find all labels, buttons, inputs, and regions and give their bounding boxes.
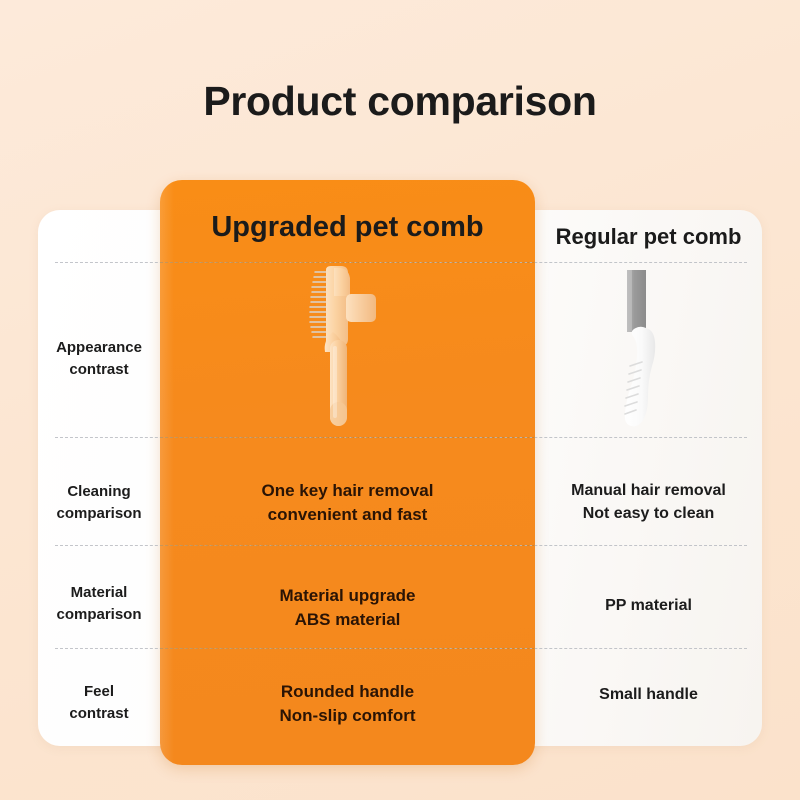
cell-line-1: Small handle — [535, 684, 762, 707]
cell-line-1: Rounded handle — [160, 680, 535, 704]
column-header-regular-pet-comb: Regular pet comb — [535, 224, 762, 250]
cell-line-1: PP material — [535, 595, 762, 618]
cell-upgraded-material: Material upgrade ABS material — [160, 584, 535, 632]
cell-regular-feel: Small handle — [535, 684, 762, 707]
row-label-material-comparison: Material comparison — [38, 582, 160, 626]
cell-line-2: Non-slip comfort — [160, 704, 535, 728]
cell-line-1: Manual hair removal — [535, 480, 762, 503]
cell-regular-cleaning: Manual hair removal Not easy to clean — [535, 480, 762, 525]
row-label-line-2: contrast — [38, 359, 160, 381]
cell-line-2: convenient and fast — [160, 503, 535, 527]
row-label-line-1: Material — [38, 582, 160, 604]
row-divider-2-inner — [160, 437, 535, 438]
upgraded-pet-comb-illustration — [160, 262, 535, 437]
row-label-line-1: Cleaning — [38, 481, 160, 503]
row-label-cleaning-comparison: Cleaning comparison — [38, 481, 160, 525]
cell-regular-material: PP material — [535, 595, 762, 618]
row-label-line-2: comparison — [38, 503, 160, 525]
column-header-upgraded-pet-comb: Upgraded pet comb — [160, 211, 535, 244]
row-label-appearance-contrast: Appearance contrast — [38, 337, 160, 381]
cell-upgraded-feel: Rounded handle Non-slip comfort — [160, 680, 535, 728]
row-divider-3-inner — [160, 545, 535, 546]
cell-upgraded-cleaning: One key hair removal convenient and fast — [160, 479, 535, 527]
row-divider-4-inner — [160, 648, 535, 649]
row-label-line-1: Feel — [38, 681, 160, 703]
row-label-line-2: comparison — [38, 604, 160, 626]
row-label-feel-contrast: Feel contrast — [38, 681, 160, 725]
cell-line-1: One key hair removal — [160, 479, 535, 503]
row-label-line-1: Appearance — [38, 337, 160, 359]
page-title: Product comparison — [0, 78, 800, 125]
regular-pet-comb-illustration — [535, 262, 762, 437]
cell-line-1: Material upgrade — [160, 584, 535, 608]
cell-line-2: Not easy to clean — [535, 503, 762, 526]
row-label-line-2: contrast — [38, 703, 160, 725]
cell-line-2: ABS material — [160, 608, 535, 632]
